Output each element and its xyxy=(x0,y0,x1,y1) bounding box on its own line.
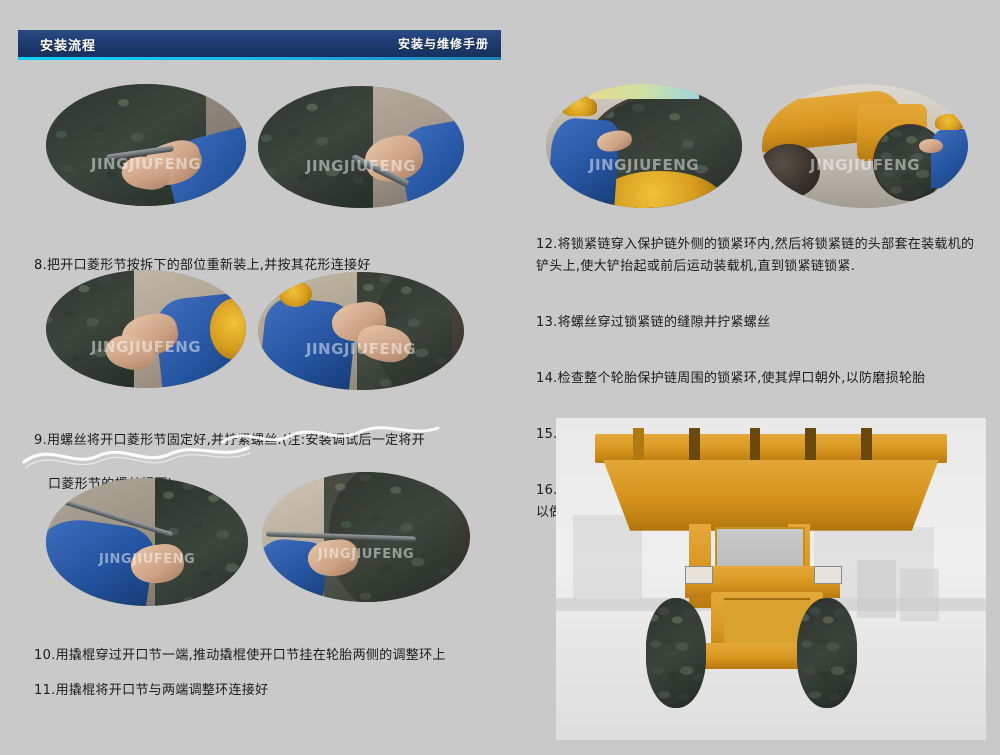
loader-bucket-top-edge xyxy=(595,434,948,463)
photo-scene xyxy=(762,84,968,208)
photo-step-9-b: JINGJIUFENG xyxy=(258,272,464,390)
photo-scene xyxy=(258,86,464,208)
loader-bucket-bracket-1 xyxy=(633,428,644,460)
loader-tyre-chain-right xyxy=(797,598,857,707)
photo-scene xyxy=(46,84,246,206)
photo-step-12-a: JINGJIUFENG xyxy=(546,84,742,208)
manual-page: 安装流程 安装与维修手册 JINGJIUFENG JINGJIUFENG 8.把… xyxy=(0,0,1000,755)
photo-worker-sleeve xyxy=(547,117,620,208)
photo-scene xyxy=(262,472,470,602)
caption-step-11: 11.用撬棍将开口节与两端调整环连接好 xyxy=(34,658,484,702)
instruction-item-14-line-1: 14.检查整个轮胎保护链周围的锁紧环,使其焊口朝外,以防磨损轮胎 xyxy=(536,371,926,386)
photo-chain xyxy=(258,86,373,208)
instruction-item-12-line-1: 12.将锁紧链穿入保护链外侧的锁紧环内,然后将锁紧链的头部套在装载机的 xyxy=(536,237,974,252)
photo-helmet xyxy=(935,114,964,130)
header-left-title: 安装流程 xyxy=(40,35,96,54)
photo-worker-sleeve xyxy=(931,129,968,189)
instruction-item-13-line-1: 13.将螺丝穿过锁紧链的缝隙并拧紧螺丝 xyxy=(536,315,770,330)
loader-bucket-bracket-5 xyxy=(861,428,872,460)
loader-headlight-right xyxy=(814,566,842,584)
photo-front-tyre xyxy=(762,144,820,199)
photo-scene xyxy=(46,270,246,388)
photo-scene xyxy=(546,84,742,208)
caption-step-9-line-1: 9.用螺丝将开口菱形节固定好,并拧紧螺丝.(注:安装调试后一定将开 xyxy=(34,430,474,452)
photo-banner xyxy=(589,84,699,99)
photo-step-9-a: JINGJIUFENG xyxy=(46,270,246,388)
photo-helmet xyxy=(562,96,597,116)
loader-bucket-bracket-4 xyxy=(805,428,816,460)
loader-bucket-bracket-3 xyxy=(750,428,761,460)
loader-bucket-body xyxy=(603,460,938,531)
instruction-item-12: 12.将锁紧链穿入保护链外侧的锁紧环内,然后将锁紧链的头部套在装载机的 铲头上,… xyxy=(536,212,988,278)
loader-front-view-photo xyxy=(556,418,986,740)
photo-step-10-a: JINGJIUFENG xyxy=(46,478,248,606)
instruction-item-13: 13.将螺丝穿过锁紧链的缝隙并拧紧螺丝 xyxy=(536,290,988,334)
photo-chain xyxy=(155,478,248,606)
photo-step-8-b: JINGJIUFENG xyxy=(258,86,464,208)
photo-chain xyxy=(46,270,134,388)
photo-scene xyxy=(258,272,464,390)
instruction-item-14: 14.检查整个轮胎保护链周围的锁紧环,使其焊口朝外,以防磨损轮胎 xyxy=(536,346,988,390)
photo-helmet xyxy=(279,281,312,307)
photo-step-8-a: JINGJIUFENG xyxy=(46,84,246,206)
page-header-bar: 安装流程 安装与维修手册 xyxy=(18,30,501,60)
loader-headlight-left xyxy=(685,566,713,584)
loader-tyre-chain-left xyxy=(646,598,706,707)
header-right-title: 安装与维修手册 xyxy=(398,35,489,52)
instruction-item-12-line-2: 铲头上,使大铲抬起或前后运动装载机,直到锁紧链锁紧. xyxy=(536,259,855,274)
loader-bucket-bracket-2 xyxy=(689,428,700,460)
caption-step-11-line-1: 11.用撬棍将开口节与两端调整环连接好 xyxy=(34,683,268,698)
photo-step-12-b: JINGJIUFENG xyxy=(762,84,968,208)
photo-scene xyxy=(46,478,248,606)
bg-machine-2 xyxy=(900,569,939,621)
photo-step-10-b: JINGJIUFENG xyxy=(262,472,470,602)
